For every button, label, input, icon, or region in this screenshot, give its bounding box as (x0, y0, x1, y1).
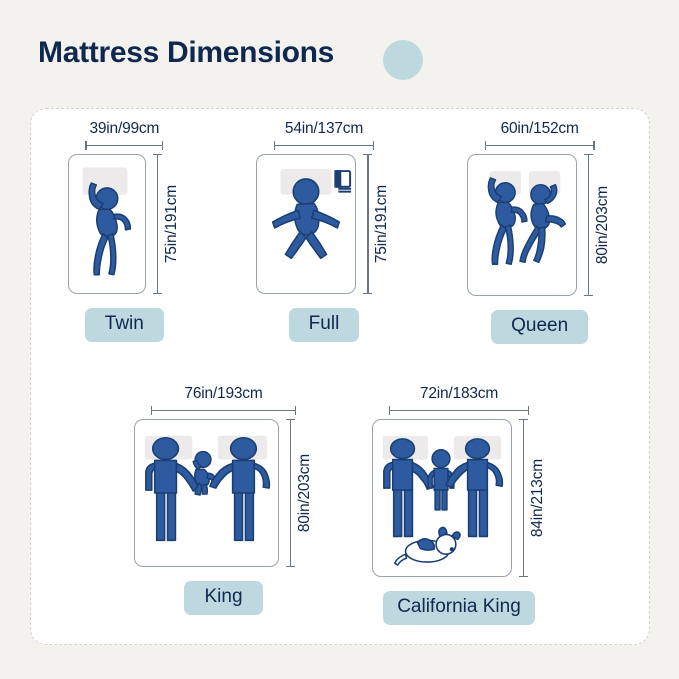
rule-cap-left (389, 406, 390, 415)
bed-item-twin[interactable]: 39in/99cm (68, 120, 181, 344)
full-bed-row: 75in/191cm (256, 154, 391, 294)
queen-height-rule: 80in/203cm (584, 154, 612, 296)
bed-item-california-king[interactable]: 72in/183cm (372, 385, 547, 625)
queen-mattress (467, 154, 577, 296)
bed-item-queen[interactable]: 60in/152cm (467, 120, 612, 344)
queen-bed-row: 80in/203cm (467, 154, 612, 296)
page-header: Mattress Dimensions (38, 36, 334, 70)
bed-row-top: 39in/99cm (30, 120, 650, 344)
full-height-label: 75in/191cm (373, 185, 391, 263)
king-height-rule: 80in/203cm (286, 419, 314, 567)
twin-bed-row: 75in/191cm (68, 154, 181, 294)
height-line (519, 419, 528, 577)
rule-cap-right (528, 406, 529, 415)
california-king-figures-illustration (373, 420, 511, 576)
rule-cap-bottom (519, 576, 528, 577)
queen-figures-illustration (468, 155, 576, 295)
rule-cap-bottom (286, 566, 295, 567)
bed-label-king[interactable]: King (184, 581, 262, 615)
bed-label-twin[interactable]: Twin (85, 308, 164, 342)
height-line (153, 154, 162, 294)
adult-figure-icon-left (489, 178, 528, 264)
bed-row-bottom: 76in/193cm (30, 385, 650, 625)
king-mattress (134, 419, 279, 567)
rule-cap-top (153, 154, 162, 155)
queen-width-rule (485, 141, 595, 150)
full-height-rule: 75in/191cm (363, 154, 391, 294)
twin-height-label: 75in/191cm (163, 185, 181, 263)
bed-label-queen[interactable]: Queen (491, 310, 588, 344)
full-width-rule (274, 141, 374, 150)
twin-width-label: 39in/99cm (89, 120, 159, 138)
rule-cap-top (519, 419, 528, 420)
rule-cap-left (85, 141, 86, 150)
height-line (584, 154, 593, 296)
baby-figure-icon (193, 452, 215, 495)
rule-cap-right (593, 141, 594, 150)
bed-label-california-king[interactable]: California King (383, 591, 535, 625)
queen-width-label: 60in/152cm (501, 120, 579, 138)
height-line (363, 154, 372, 294)
twin-mattress (68, 154, 146, 294)
twin-figure-illustration (69, 155, 145, 293)
king-bed-row: 80in/203cm (134, 419, 314, 567)
rule-cap-left (151, 406, 152, 415)
california-king-height-label: 84in/213cm (529, 459, 547, 537)
adult-figure-icon-right (520, 185, 565, 263)
title-accent-circle (383, 40, 423, 80)
full-mattress (256, 154, 356, 294)
rule-cap-bottom (584, 295, 593, 296)
bed-label-full[interactable]: Full (289, 308, 360, 342)
book-icon (336, 171, 352, 192)
height-line (286, 419, 295, 567)
king-height-label: 80in/203cm (296, 454, 314, 532)
rule-cap-left (274, 141, 275, 150)
king-width-rule (151, 406, 296, 415)
california-king-width-label: 72in/183cm (420, 385, 498, 403)
california-king-bed-row: 84in/213cm (372, 419, 547, 577)
full-figure-illustration (257, 155, 355, 293)
full-width-label: 54in/137cm (285, 120, 363, 138)
california-king-mattress (372, 419, 512, 577)
rule-cap-bottom (363, 293, 372, 294)
rule-cap-right (162, 141, 163, 150)
queen-height-label: 80in/203cm (594, 186, 612, 264)
california-king-width-rule (389, 406, 529, 415)
california-king-height-rule: 84in/213cm (519, 419, 547, 577)
king-figures-illustration (135, 420, 278, 566)
rule-cap-bottom (153, 293, 162, 294)
rule-cap-top (363, 154, 372, 155)
twin-height-rule: 75in/191cm (153, 154, 181, 294)
twin-width-rule (85, 141, 163, 150)
bed-item-king[interactable]: 76in/193cm (134, 385, 314, 625)
adult-figure-icon (89, 183, 130, 275)
rule-cap-right (373, 141, 374, 150)
rule-cap-top (286, 419, 295, 420)
rule-cap-right (295, 406, 296, 415)
king-width-label: 76in/193cm (184, 385, 262, 403)
page-title: Mattress Dimensions (38, 36, 334, 70)
bed-item-full[interactable]: 54in/137cm (256, 120, 391, 344)
rule-cap-left (485, 141, 486, 150)
rule-cap-top (584, 154, 593, 155)
